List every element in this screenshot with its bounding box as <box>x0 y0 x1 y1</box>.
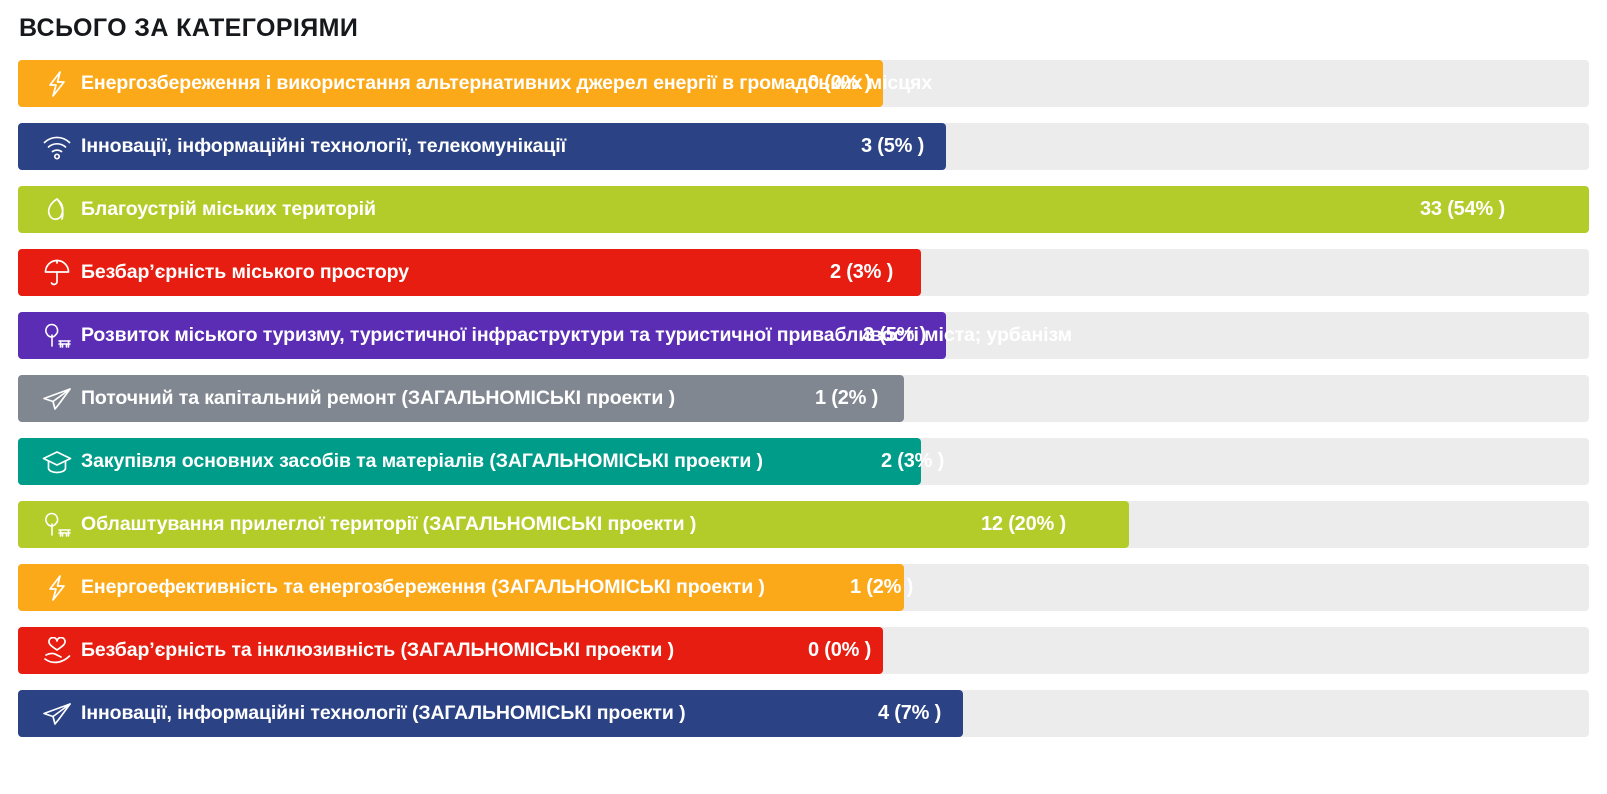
bar-row[interactable]: Енергоефективність та енергозбереження (… <box>18 564 1589 611</box>
bar-value: 2 (3% ) <box>881 438 944 485</box>
bar-fill <box>18 312 946 359</box>
bar-value: 1 (2% ) <box>850 564 913 611</box>
bar-row[interactable]: Закупівля основних засобів та матеріалів… <box>18 438 1589 485</box>
bar-fill <box>18 375 904 422</box>
bar-fill <box>18 690 963 737</box>
bar-value: 0 (0% ) <box>808 60 871 107</box>
bar-fill <box>18 60 883 107</box>
bar-fill <box>18 123 946 170</box>
category-totals-page: ВСЬОГО ЗА КАТЕГОРІЯМИ Енергозбереження і… <box>0 0 1607 794</box>
bar-fill <box>18 438 921 485</box>
bar-value: 1 (2% ) <box>815 375 878 422</box>
bar-row[interactable]: Безбар’єрність міського простору2 (3% ) <box>18 249 1589 296</box>
bar-fill <box>18 249 921 296</box>
bar-value: 3 (5% ) <box>863 312 926 359</box>
bar-row[interactable]: Облаштування прилеглої території (ЗАГАЛЬ… <box>18 501 1589 548</box>
bar-fill <box>18 186 1589 233</box>
page-title: ВСЬОГО ЗА КАТЕГОРІЯМИ <box>18 0 1589 47</box>
bar-row[interactable]: Благоустрій міських територій33 (54% ) <box>18 186 1589 233</box>
bar-value: 4 (7% ) <box>878 690 941 737</box>
bar-row[interactable]: Безбар’єрність та інклюзивність (ЗАГАЛЬН… <box>18 627 1589 674</box>
bar-row[interactable]: Розвиток міського туризму, туристичної і… <box>18 312 1589 359</box>
bar-value: 33 (54% ) <box>1420 186 1505 233</box>
bar-value: 2 (3% ) <box>830 249 893 296</box>
bar-value: 3 (5% ) <box>861 123 924 170</box>
bar-fill <box>18 564 904 611</box>
bar-fill <box>18 627 883 674</box>
bar-row[interactable]: Інновації, інформаційні технології (ЗАГА… <box>18 690 1589 737</box>
bar-value: 12 (20% ) <box>981 501 1066 548</box>
bar-fill <box>18 501 1129 548</box>
bar-row[interactable]: Інновації, інформаційні технології, теле… <box>18 123 1589 170</box>
bar-row[interactable]: Енергозбереження і використання альтерна… <box>18 60 1589 107</box>
category-bar-chart: Енергозбереження і використання альтерна… <box>18 60 1589 737</box>
bar-row[interactable]: Поточний та капітальний ремонт (ЗАГАЛЬНО… <box>18 375 1589 422</box>
bar-value: 0 (0% ) <box>808 627 871 674</box>
